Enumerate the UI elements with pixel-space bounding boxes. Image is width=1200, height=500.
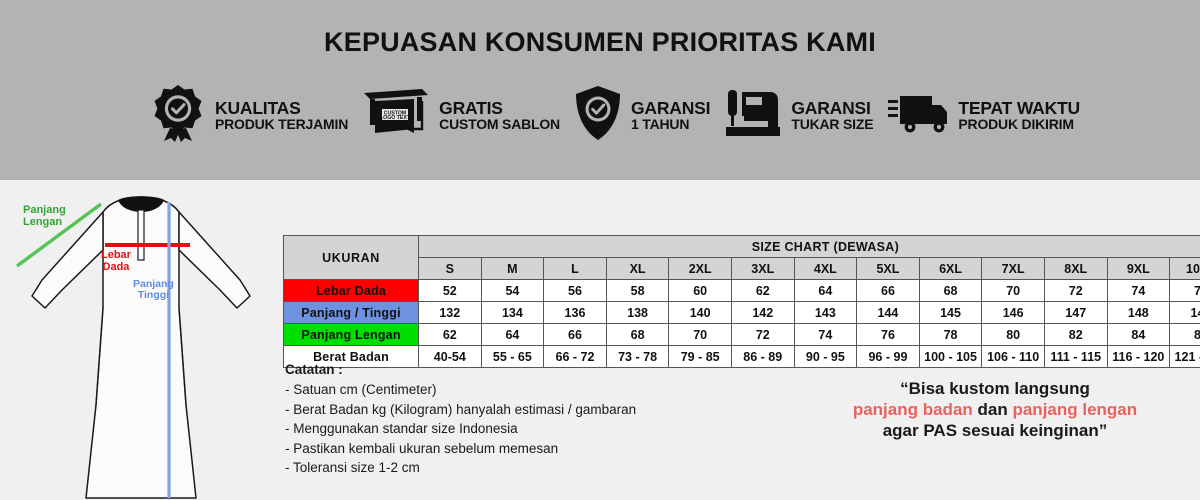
badge-tepat-waktu: TEPAT WAKTU PRODUK DIKIRIM <box>887 90 1080 141</box>
cell-3-7: 96 - 99 <box>857 346 920 368</box>
promo-highlight-badan: panjang badan <box>853 400 973 419</box>
sewing-machine-icon <box>724 86 782 145</box>
badge-tepat-line1: TEPAT WAKTU <box>958 99 1080 117</box>
label-panjang-tinggi-line2: Tinggi <box>138 289 169 301</box>
cell-1-3: 138 <box>606 302 669 324</box>
badge-tepat-waktu-text: TEPAT WAKTU PRODUK DIKIRIM <box>958 99 1080 131</box>
delivery-truck-icon <box>887 90 949 141</box>
size-header-7xl: 7XL <box>982 258 1045 280</box>
badge-gratis-line1: GRATIS <box>439 99 560 117</box>
table-row: Panjang / Tinggi132134136138140142143144… <box>284 302 1200 324</box>
cell-1-12: 149 <box>1170 302 1200 324</box>
ukuran-header-cell: UKURAN <box>284 236 419 280</box>
cell-0-3: 58 <box>606 280 669 302</box>
cell-0-12: 76 <box>1170 280 1200 302</box>
cell-3-11: 116 - 120 <box>1107 346 1170 368</box>
table-row: Lebar Dada52545658606264666870727476 <box>284 280 1200 302</box>
cell-0-4: 60 <box>669 280 732 302</box>
badge-tepat-line2: PRODUK DIKIRIM <box>958 117 1080 131</box>
badge-tukar-line2: TUKAR SIZE <box>791 117 873 131</box>
cell-2-6: 74 <box>794 324 857 346</box>
svg-text:LOGO TEXT: LOGO TEXT <box>380 115 411 121</box>
size-header-3xl: 3XL <box>731 258 794 280</box>
label-lebar-dada-line2: Dada <box>103 261 130 273</box>
cell-0-10: 72 <box>1044 280 1107 302</box>
cell-2-10: 82 <box>1044 324 1107 346</box>
cell-0-5: 62 <box>731 280 794 302</box>
note-item: - Toleransi size 1-2 cm <box>285 458 636 478</box>
cell-0-6: 64 <box>794 280 857 302</box>
cell-1-4: 140 <box>669 302 732 324</box>
cell-1-11: 148 <box>1107 302 1170 324</box>
row-label-0: Lebar Dada <box>284 280 419 302</box>
table-head: UKURAN SIZE CHART (DEWASA) SMLXL2XL3XL4X… <box>284 236 1200 280</box>
cell-3-5: 86 - 89 <box>731 346 794 368</box>
cell-0-2: 56 <box>544 280 607 302</box>
size-header-s: S <box>419 258 482 280</box>
label-panjang-lengan-line1: Panjang <box>23 204 66 216</box>
cell-2-7: 76 <box>857 324 920 346</box>
notes-section: Catatan : - Satuan cm (Centimeter)- Bera… <box>285 362 636 478</box>
cell-1-5: 142 <box>731 302 794 324</box>
badge-kualitas: KUALITAS PRODUK TERJAMIN <box>150 84 348 147</box>
cell-2-0: 62 <box>419 324 482 346</box>
badge-gratis-sablon-text: GRATIS CUSTOM SABLON <box>439 99 560 131</box>
badge-garansi-line1: GARANSI <box>631 99 710 117</box>
table-head-row-title: UKURAN SIZE CHART (DEWASA) <box>284 236 1200 258</box>
label-lebar-dada: Lebar Dada <box>101 250 131 274</box>
cell-3-8: 100 - 105 <box>919 346 982 368</box>
printing-plotter-icon: CUSTOM LOGO TEXT <box>362 85 430 146</box>
cell-2-4: 70 <box>669 324 732 346</box>
cell-1-6: 143 <box>794 302 857 324</box>
size-header-xl: XL <box>606 258 669 280</box>
size-header-8xl: 8XL <box>1044 258 1107 280</box>
badge-garansi-tahun-text: GARANSI 1 TAHUN <box>631 99 710 131</box>
promo-line-3: agar PAS sesuai keinginan” <box>820 420 1170 441</box>
cell-3-9: 106 - 110 <box>982 346 1045 368</box>
size-header-9xl: 9XL <box>1107 258 1170 280</box>
size-chart-title-cell: SIZE CHART (DEWASA) <box>419 236 1200 258</box>
size-header-10xl: 10XL <box>1170 258 1200 280</box>
cell-2-5: 72 <box>731 324 794 346</box>
badge-garansi-tukar-text: GARANSI TUKAR SIZE <box>791 99 873 131</box>
cell-3-10: 111 - 115 <box>1044 346 1107 368</box>
size-chart-table: UKURAN SIZE CHART (DEWASA) SMLXL2XL3XL4X… <box>283 235 1200 368</box>
notes-list: - Satuan cm (Centimeter)- Berat Badan kg… <box>285 380 636 478</box>
shield-check-icon <box>574 85 622 146</box>
note-item: - Menggunakan standar size Indonesia <box>285 419 636 439</box>
cell-0-11: 74 <box>1107 280 1170 302</box>
badge-gratis-line2: CUSTOM SABLON <box>439 117 560 131</box>
cell-2-3: 68 <box>606 324 669 346</box>
size-header-2xl: 2XL <box>669 258 732 280</box>
promo-conjunction: dan <box>973 400 1013 419</box>
cell-0-1: 54 <box>481 280 544 302</box>
note-item: - Berat Badan kg (Kilogram) hanyalah est… <box>285 400 636 420</box>
note-item: - Satuan cm (Centimeter) <box>285 380 636 400</box>
cell-3-4: 79 - 85 <box>669 346 732 368</box>
note-item: - Pastikan kembali ukuran sebelum memesa… <box>285 439 636 459</box>
promo-line-1: “Bisa kustom langsung <box>820 378 1170 399</box>
page-title: KEPUASAN KONSUMEN PRIORITAS KAMI <box>0 27 1200 58</box>
badge-garansi-tahun: GARANSI 1 TAHUN <box>574 85 710 146</box>
promo-text-block: “Bisa kustom langsung panjang badan dan … <box>820 378 1170 441</box>
cell-2-1: 64 <box>481 324 544 346</box>
cell-1-9: 146 <box>982 302 1045 324</box>
cell-1-10: 147 <box>1044 302 1107 324</box>
table-row: Panjang Lengan62646668707274767880828485 <box>284 324 1200 346</box>
label-panjang-lengan-line2: Lengan <box>23 216 62 228</box>
cell-2-2: 66 <box>544 324 607 346</box>
promo-highlight-lengan: panjang lengan <box>1012 400 1137 419</box>
size-header-4xl: 4XL <box>794 258 857 280</box>
size-header-5xl: 5XL <box>857 258 920 280</box>
label-panjang-tinggi-line1: Panjang <box>133 278 174 290</box>
promo-line-2: panjang badan dan panjang lengan <box>820 399 1170 420</box>
promo-banner: KEPUASAN KONSUMEN PRIORITAS KAMI KUALITA… <box>0 0 1200 180</box>
cell-0-0: 52 <box>419 280 482 302</box>
row-label-2: Panjang Lengan <box>284 324 419 346</box>
size-header-m: M <box>481 258 544 280</box>
cell-0-8: 68 <box>919 280 982 302</box>
cell-1-7: 144 <box>857 302 920 324</box>
row-label-1: Panjang / Tinggi <box>284 302 419 324</box>
cell-1-2: 136 <box>544 302 607 324</box>
table-head-row-sizes: SMLXL2XL3XL4XL5XL6XL7XL8XL9XL10XL <box>284 258 1200 280</box>
label-lebar-dada-line1: Lebar <box>101 249 131 261</box>
cell-2-9: 80 <box>982 324 1045 346</box>
cell-2-11: 84 <box>1107 324 1170 346</box>
badge-kualitas-line1: KUALITAS <box>215 99 348 117</box>
badge-kualitas-line2: PRODUK TERJAMIN <box>215 117 348 131</box>
size-header-l: L <box>544 258 607 280</box>
cell-1-0: 132 <box>419 302 482 324</box>
cell-3-6: 90 - 95 <box>794 346 857 368</box>
label-panjang-lengan: Panjang Lengan <box>23 205 66 229</box>
badge-garansi-line2: 1 TAHUN <box>631 117 710 131</box>
badge-strip: KUALITAS PRODUK TERJAMIN CUSTOM LOGO TEX… <box>150 84 1080 146</box>
cell-0-9: 70 <box>982 280 1045 302</box>
size-chart-table-wrapper: UKURAN SIZE CHART (DEWASA) SMLXL2XL3XL4X… <box>283 235 1200 368</box>
cell-1-8: 145 <box>919 302 982 324</box>
garment-diagram: Panjang Lengan Lebar Dada Panjang Tinggi <box>0 180 283 500</box>
badge-gratis-sablon: CUSTOM LOGO TEXT GRATIS CUSTOM SABLON <box>362 85 560 146</box>
size-header-6xl: 6XL <box>919 258 982 280</box>
cell-1-1: 134 <box>481 302 544 324</box>
cell-2-8: 78 <box>919 324 982 346</box>
badge-garansi-tukar: GARANSI TUKAR SIZE <box>724 86 873 145</box>
cell-2-12: 85 <box>1170 324 1200 346</box>
quality-rosette-icon <box>150 84 206 147</box>
cell-3-12: 121 - 125 <box>1170 346 1200 368</box>
notes-title: Catatan : <box>285 362 636 377</box>
table-body: Lebar Dada52545658606264666870727476Panj… <box>284 280 1200 368</box>
badge-kualitas-text: KUALITAS PRODUK TERJAMIN <box>215 99 348 131</box>
badge-tukar-line1: GARANSI <box>791 99 873 117</box>
label-panjang-tinggi: Panjang Tinggi <box>133 279 174 302</box>
cell-0-7: 66 <box>857 280 920 302</box>
